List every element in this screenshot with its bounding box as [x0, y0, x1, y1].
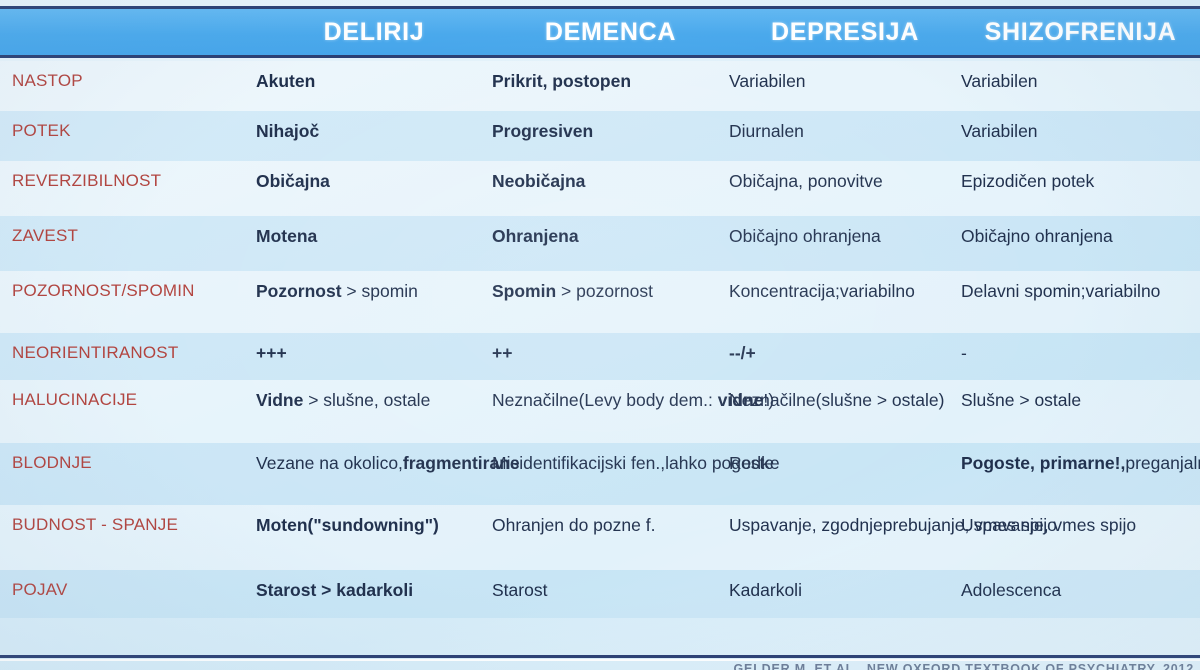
source-citation: GELDER M. ET AL., NEW OXFORD TEXTBOOK OF…	[734, 662, 1194, 670]
cell-demenca: Prikrit, postopen	[492, 61, 729, 97]
cell-shizofrenija: Delavni spomin;variabilno	[961, 271, 1200, 307]
table-row: POZORNOST/SPOMINPozornost > spominSpomin…	[0, 271, 1200, 333]
cell-depresija: --/+	[729, 333, 961, 369]
cell-demenca: Neobičajna	[492, 161, 729, 197]
table-row: POJAVStarost > kadarkoliStarostKadarkoli…	[0, 570, 1200, 618]
cell-shizofrenija: Variabilen	[961, 111, 1200, 147]
cell-delirij: +++	[256, 333, 492, 369]
cell-delirij: Motena	[256, 216, 492, 252]
table-row: HALUCINACIJEVidne > slušne, ostaleNeznač…	[0, 380, 1200, 443]
cell-demenca: Misidentifikacijski fen.,lahko pogoste	[492, 443, 729, 479]
footer-divider	[0, 655, 1200, 658]
cell-demenca: ++	[492, 333, 729, 369]
cell-demenca: Ohranjena	[492, 216, 729, 252]
table-row: REVERZIBILNOSTObičajnaNeobičajnaObičajna…	[0, 161, 1200, 216]
cell-depresija: Kadarkoli	[729, 570, 961, 606]
cell-delirij: Vezane na okolico,fragmentirane	[256, 443, 492, 479]
cell-depresija: Uspavanje, zgodnjeprebujanje, vmes spijo	[729, 505, 961, 541]
table-row: BUDNOST - SPANJEMoten("sundowning")Ohran…	[0, 505, 1200, 570]
row-label: NEORIENTIRANOST	[0, 333, 256, 369]
cell-shizofrenija: Pogoste, primarne!,preganjalne > druge	[961, 443, 1200, 479]
cell-delirij: Nihajoč	[256, 111, 492, 147]
footer-divider-highlight	[0, 659, 1200, 661]
cell-shizofrenija: -	[961, 333, 1200, 369]
cell-delirij: Pozornost > spomin	[256, 271, 492, 307]
cell-demenca: Spomin > pozornost	[492, 271, 729, 307]
table-body: NASTOPAkutenPrikrit, postopenVariabilenV…	[0, 61, 1200, 656]
cell-delirij: Običajna	[256, 161, 492, 197]
table-row: BLODNJEVezane na okolico,fragmentiraneMi…	[0, 443, 1200, 505]
header-cell-delirij: DELIRIJ	[256, 18, 492, 47]
row-label: POZORNOST/SPOMIN	[0, 271, 256, 307]
slide-canvas: DELIRIJ DEMENCA DEPRESIJA SHIZOFRENIJA N…	[0, 0, 1200, 670]
cell-depresija: Variabilen	[729, 61, 961, 97]
row-label: BUDNOST - SPANJE	[0, 505, 256, 541]
cell-shizofrenija: Epizodičen potek	[961, 161, 1200, 197]
table-row: NASTOPAkutenPrikrit, postopenVariabilenV…	[0, 61, 1200, 111]
cell-shizofrenija: Uspavanje, vmes spijo	[961, 505, 1200, 541]
table-row: ZAVESTMotenaOhranjenaObičajno ohranjenaO…	[0, 216, 1200, 271]
cell-depresija: Diurnalen	[729, 111, 961, 147]
cell-delirij: Vidne > slušne, ostale	[256, 380, 492, 416]
row-label: HALUCINACIJE	[0, 380, 256, 416]
cell-delirij: Akuten	[256, 61, 492, 97]
row-label: POTEK	[0, 111, 256, 147]
cell-shizofrenija: Običajno ohranjena	[961, 216, 1200, 252]
table-row: NEORIENTIRANOST+++++--/+-	[0, 333, 1200, 380]
cell-shizofrenija: Variabilen	[961, 61, 1200, 97]
cell-depresija: Neznačilne(slušne > ostale)	[729, 380, 961, 416]
header-cell-shizofrenija: SHIZOFRENIJA	[961, 18, 1200, 47]
cell-depresija: Redke	[729, 443, 961, 479]
cell-delirij: Starost > kadarkoli	[256, 570, 492, 606]
cell-depresija: Koncentracija;variabilno	[729, 271, 961, 307]
cell-delirij: Moten("sundowning")	[256, 505, 492, 541]
cell-depresija: Običajno ohranjena	[729, 216, 961, 252]
row-label: ZAVEST	[0, 216, 256, 252]
row-label: BLODNJE	[0, 443, 256, 479]
header-cell-demenca: DEMENCA	[492, 18, 729, 47]
cell-demenca: Ohranjen do pozne f.	[492, 505, 729, 541]
cell-demenca: Neznačilne(Levy body dem.: vidne!)	[492, 380, 729, 416]
table-row: POTEKNihajočProgresivenDiurnalenVariabil…	[0, 111, 1200, 161]
cell-shizofrenija: Adolescenca	[961, 570, 1200, 606]
table-header-row: DELIRIJ DEMENCA DEPRESIJA SHIZOFRENIJA	[0, 6, 1200, 58]
cell-depresija: Običajna, ponovitve	[729, 161, 961, 197]
header-cell-depresija: DEPRESIJA	[729, 18, 961, 47]
cell-demenca: Progresiven	[492, 111, 729, 147]
row-label: POJAV	[0, 570, 256, 606]
cell-demenca: Starost	[492, 570, 729, 606]
row-label: NASTOP	[0, 61, 256, 97]
row-label: REVERZIBILNOST	[0, 161, 256, 197]
cell-shizofrenija: Slušne > ostale	[961, 380, 1200, 416]
